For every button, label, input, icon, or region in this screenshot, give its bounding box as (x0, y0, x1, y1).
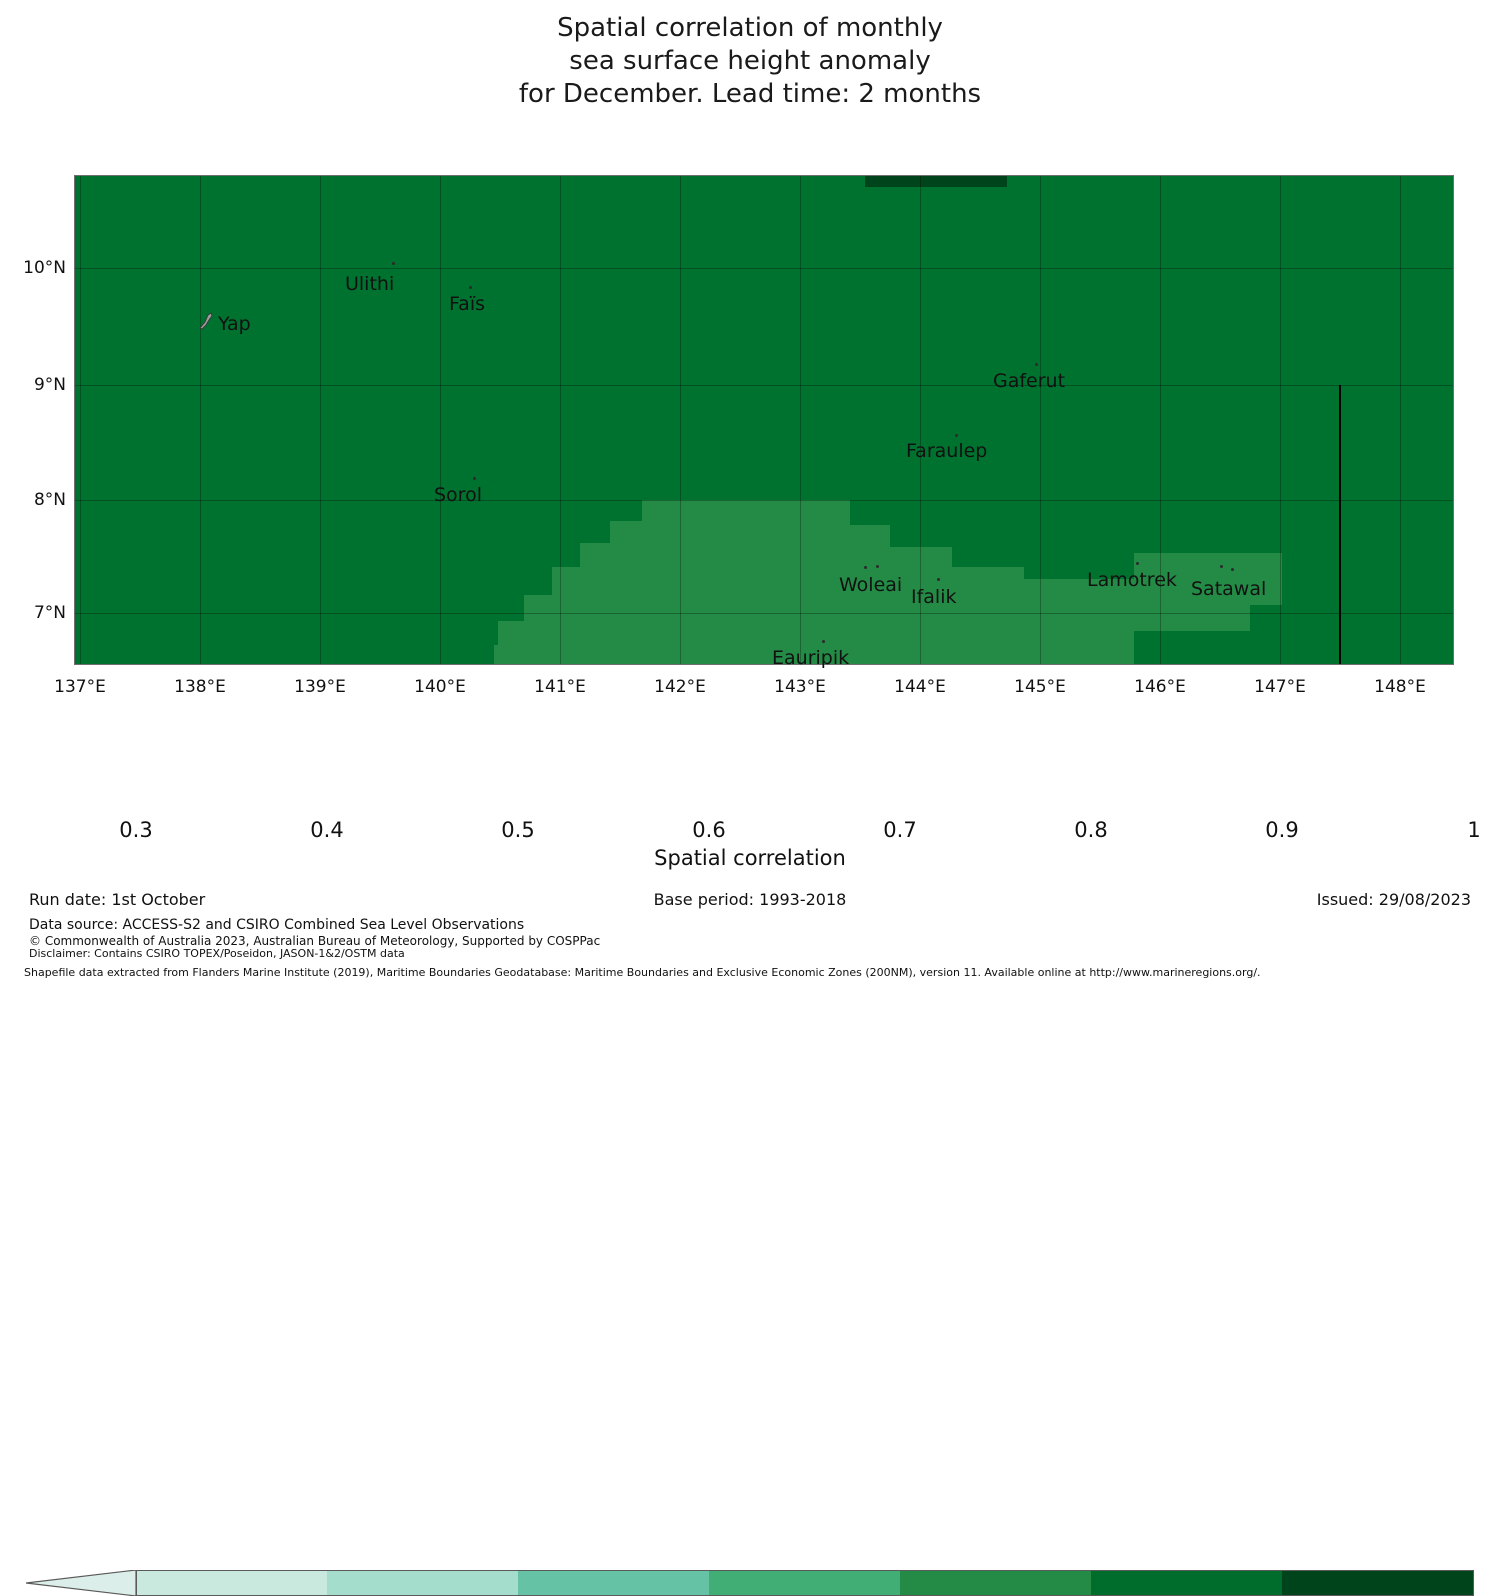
map-label-woleai: Woleai (839, 574, 902, 596)
colorbar-segment-0.5-0.6 (518, 1570, 709, 1596)
colorbar-segment-0.6-0.7 (709, 1570, 900, 1596)
island-dot-lamotrek (1136, 562, 1139, 565)
gridline-vertical (80, 175, 81, 665)
x-tick-label: 144°E (870, 677, 970, 697)
footer-data-source: Data source: ACCESS-S2 and CSIRO Combine… (29, 917, 524, 933)
gridline-vertical (1280, 175, 1281, 665)
island-dot-satawal-2 (1231, 568, 1234, 571)
colorbar[interactable] (0, 782, 1500, 822)
map-label-sorol: Sorol (434, 484, 482, 506)
gridline-vertical (1160, 175, 1161, 665)
eez-boundary-line (1339, 385, 1341, 665)
island-dot-ulithi (392, 262, 395, 265)
colorbar-tick-label: 0.4 (287, 818, 367, 842)
x-tick-label: 142°E (630, 677, 730, 697)
region-high-north (865, 175, 1007, 187)
colorbar-segment-0.9-1.0 (1282, 1570, 1474, 1596)
yap-island-icon (196, 310, 218, 332)
map-label-ulithi: Ulithi (345, 273, 394, 295)
gridline-vertical (800, 175, 801, 665)
island-dot-woleai-2 (876, 565, 879, 568)
colorbar-tick-label: 0.7 (860, 818, 940, 842)
y-tick-label: 7°N (8, 603, 66, 623)
colorbar-tick-label: 0.8 (1051, 818, 1131, 842)
gridline-vertical (320, 175, 321, 665)
gridline-vertical (200, 175, 201, 665)
footer-disclaimer: Disclaimer: Contains CSIRO TOPEX/Poseido… (29, 947, 405, 960)
map-label-yap: Yap (218, 313, 251, 335)
footer-base-period: Base period: 1993-2018 (0, 890, 1500, 909)
gridline-horizontal (74, 500, 1454, 501)
colorbar-tick-label: 1 (1434, 818, 1500, 842)
map-label-fais: Faïs (449, 293, 485, 315)
map-label-satawal: Satawal (1191, 578, 1266, 600)
figure-root: Spatial correlation of monthly sea surfa… (0, 0, 1500, 990)
x-tick-label: 138°E (150, 677, 250, 697)
colorbar-title: Spatial correlation (0, 846, 1500, 870)
gridline-horizontal (74, 385, 1454, 386)
colorbar-tick-label: 0.5 (478, 818, 558, 842)
island-dot-woleai-1 (864, 566, 867, 569)
x-tick-label: 148°E (1350, 677, 1450, 697)
island-dot-ifalik (937, 578, 940, 581)
colorbar-tick-label: 0.3 (96, 818, 176, 842)
x-tick-label: 143°E (750, 677, 850, 697)
gridline-vertical (1400, 175, 1401, 665)
colorbar-segment-0.7-0.8 (900, 1570, 1091, 1596)
island-dot-satawal-1 (1220, 565, 1223, 568)
x-tick-label: 137°E (30, 677, 130, 697)
map-label-lamotrek: Lamotrek (1087, 569, 1177, 591)
colorbar-extend-min-arrow (26, 1570, 136, 1596)
footer-issued-date: Issued: 29/08/2023 (1317, 890, 1471, 909)
gridline-vertical (560, 175, 561, 665)
gridline-vertical (1040, 175, 1041, 665)
y-tick-label: 9°N (8, 375, 66, 395)
footer-shapefile-attribution: Shapefile data extracted from Flanders M… (24, 966, 1261, 979)
map-label-faraulep: Faraulep (906, 440, 987, 462)
region-mid-south-east (1014, 613, 1100, 665)
colorbar-segment-0.3-0.4 (136, 1570, 327, 1596)
map-label-ifalik: Ifalik (911, 586, 957, 608)
island-dot-fais (469, 286, 472, 289)
y-tick-label: 8°N (8, 490, 66, 510)
y-tick-label: 10°N (8, 258, 66, 278)
gridline-horizontal (74, 613, 1454, 614)
island-dot-faraulep (955, 434, 958, 437)
island-dot-gaferut (1035, 363, 1038, 366)
x-tick-label: 139°E (270, 677, 370, 697)
x-tick-label: 141°E (510, 677, 610, 697)
gridline-vertical (680, 175, 681, 665)
gridline-horizontal (74, 268, 1454, 269)
colorbar-tick-label: 0.9 (1242, 818, 1322, 842)
map-label-gaferut: Gaferut (993, 370, 1065, 392)
x-tick-label: 146°E (1110, 677, 1210, 697)
island-dot-sorol (473, 477, 476, 480)
colorbar-segment-0.8-0.9 (1091, 1570, 1282, 1596)
gridline-vertical (440, 175, 441, 665)
footer-copyright: © Commonwealth of Australia 2023, Austra… (29, 934, 600, 948)
x-tick-label: 147°E (1230, 677, 1330, 697)
colorbar-tick-label: 0.6 (669, 818, 749, 842)
island-dot-eauripik (822, 640, 825, 643)
page-title: Spatial correlation of monthly sea surfa… (0, 12, 1500, 111)
x-tick-label: 140°E (390, 677, 490, 697)
map-label-eauripik: Eauripik (772, 647, 849, 669)
colorbar-segment-0.4-0.5 (327, 1570, 518, 1596)
x-tick-label: 145°E (990, 677, 1090, 697)
